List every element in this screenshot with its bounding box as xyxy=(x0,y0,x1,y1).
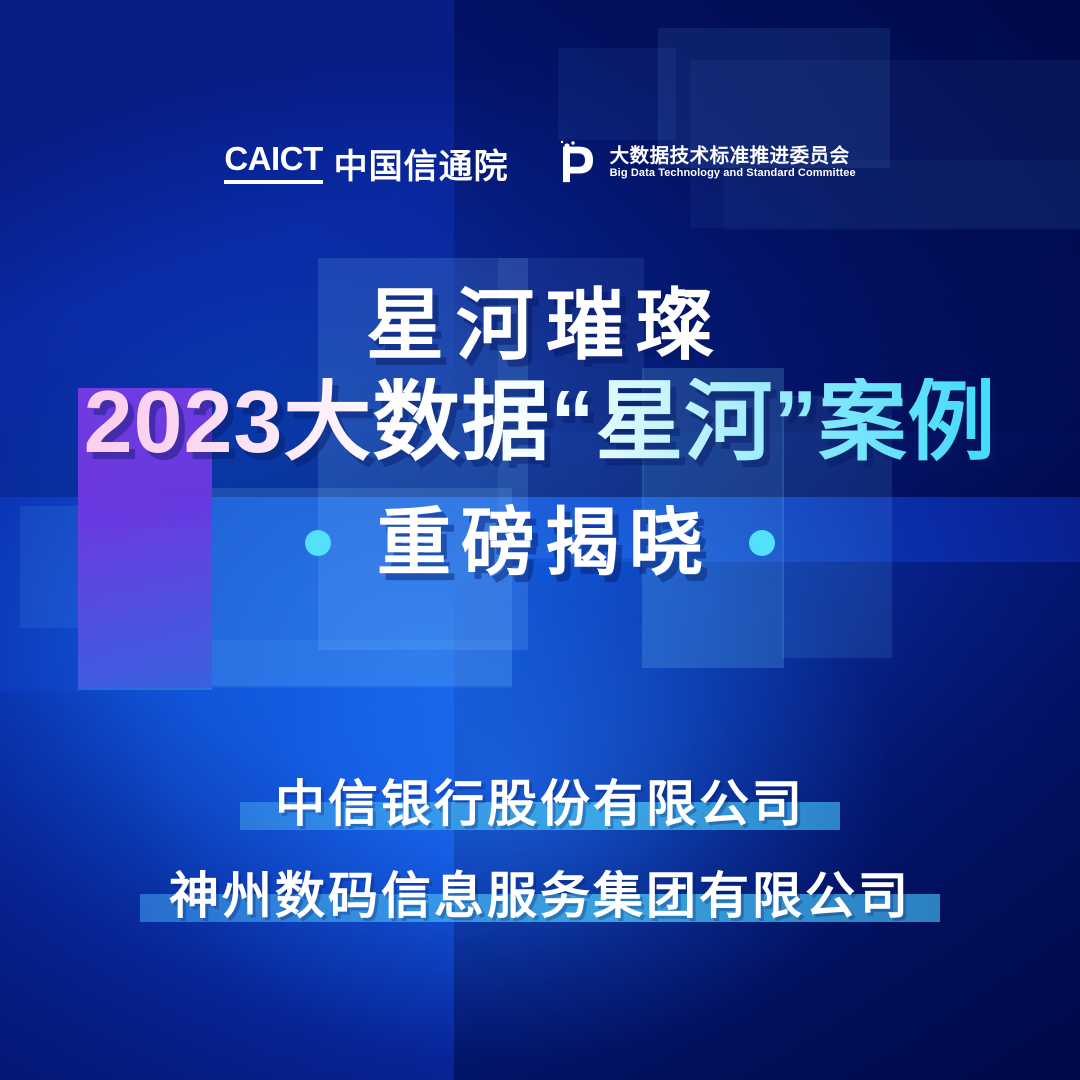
caict-wordmark-icon: CAICT xyxy=(224,142,322,184)
bdts-name-cn: 大数据技术标准推进委员会 xyxy=(610,146,856,166)
deco-block-top-right-small xyxy=(558,48,676,140)
header-logo-row: CAICT 中国信通院 大数据技术标准推进委员会 Big Data Techno… xyxy=(0,140,1080,186)
deco-block-left-lower xyxy=(212,640,512,688)
company-row: 中信银行股份有限公司 xyxy=(0,772,1080,836)
caict-name-cn: 中国信通院 xyxy=(334,150,509,184)
title-line-2: 2023大数据“星河”案例 xyxy=(0,378,1080,466)
company-row: 神州数码信息服务集团有限公司 xyxy=(0,864,1080,928)
bdts-text-group: 大数据技术标准推进委员会 Big Data Technology and Sta… xyxy=(610,146,856,180)
main-title-group: 星河璀璨 2023大数据“星河”案例 重磅揭晓 xyxy=(0,286,1080,580)
title-line-1: 星河璀璨 xyxy=(0,286,1080,364)
poster-canvas: CAICT 中国信通院 大数据技术标准推进委员会 Big Data Techno… xyxy=(0,0,1080,1080)
company-name: 神州数码信息服务集团有限公司 xyxy=(169,868,911,924)
title-line-3: 重磅揭晓 xyxy=(367,506,713,580)
company-name: 中信银行股份有限公司 xyxy=(275,776,805,832)
bdts-d-logo-icon xyxy=(555,140,599,186)
title-line-3-row: 重磅揭晓 xyxy=(0,506,1080,580)
bdts-name-en: Big Data Technology and Standard Committ… xyxy=(610,168,856,180)
bdts-logo: 大数据技术标准推进委员会 Big Data Technology and Sta… xyxy=(555,140,856,186)
caict-logo: CAICT 中国信通院 xyxy=(224,142,508,184)
company-list: 中信银行股份有限公司 神州数码信息服务集团有限公司 xyxy=(0,772,1080,928)
cyan-dot-icon-left xyxy=(305,530,331,556)
cyan-dot-icon-right xyxy=(749,530,775,556)
